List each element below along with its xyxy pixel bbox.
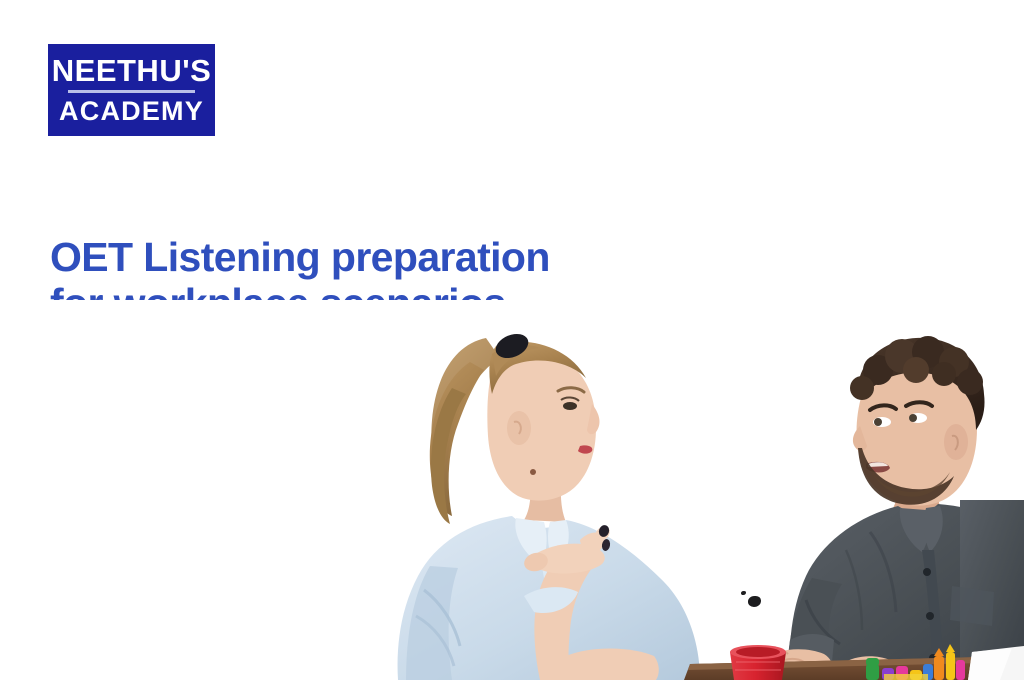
photo-illustration [0,300,1024,680]
logo-bottom-text: ACADEMY [59,98,204,125]
brand-logo[interactable]: NEETHU'S ACADEMY [48,44,215,136]
page-title-line-1: OET Listening preparation [50,235,670,281]
conversation-photo [0,300,1024,680]
poster-canvas: NEETHU'S ACADEMY OET Listening preparati… [0,0,1024,680]
logo-top-text: NEETHU'S [52,55,212,86]
logo-divider-rule [68,90,194,93]
red-cup [730,645,786,680]
